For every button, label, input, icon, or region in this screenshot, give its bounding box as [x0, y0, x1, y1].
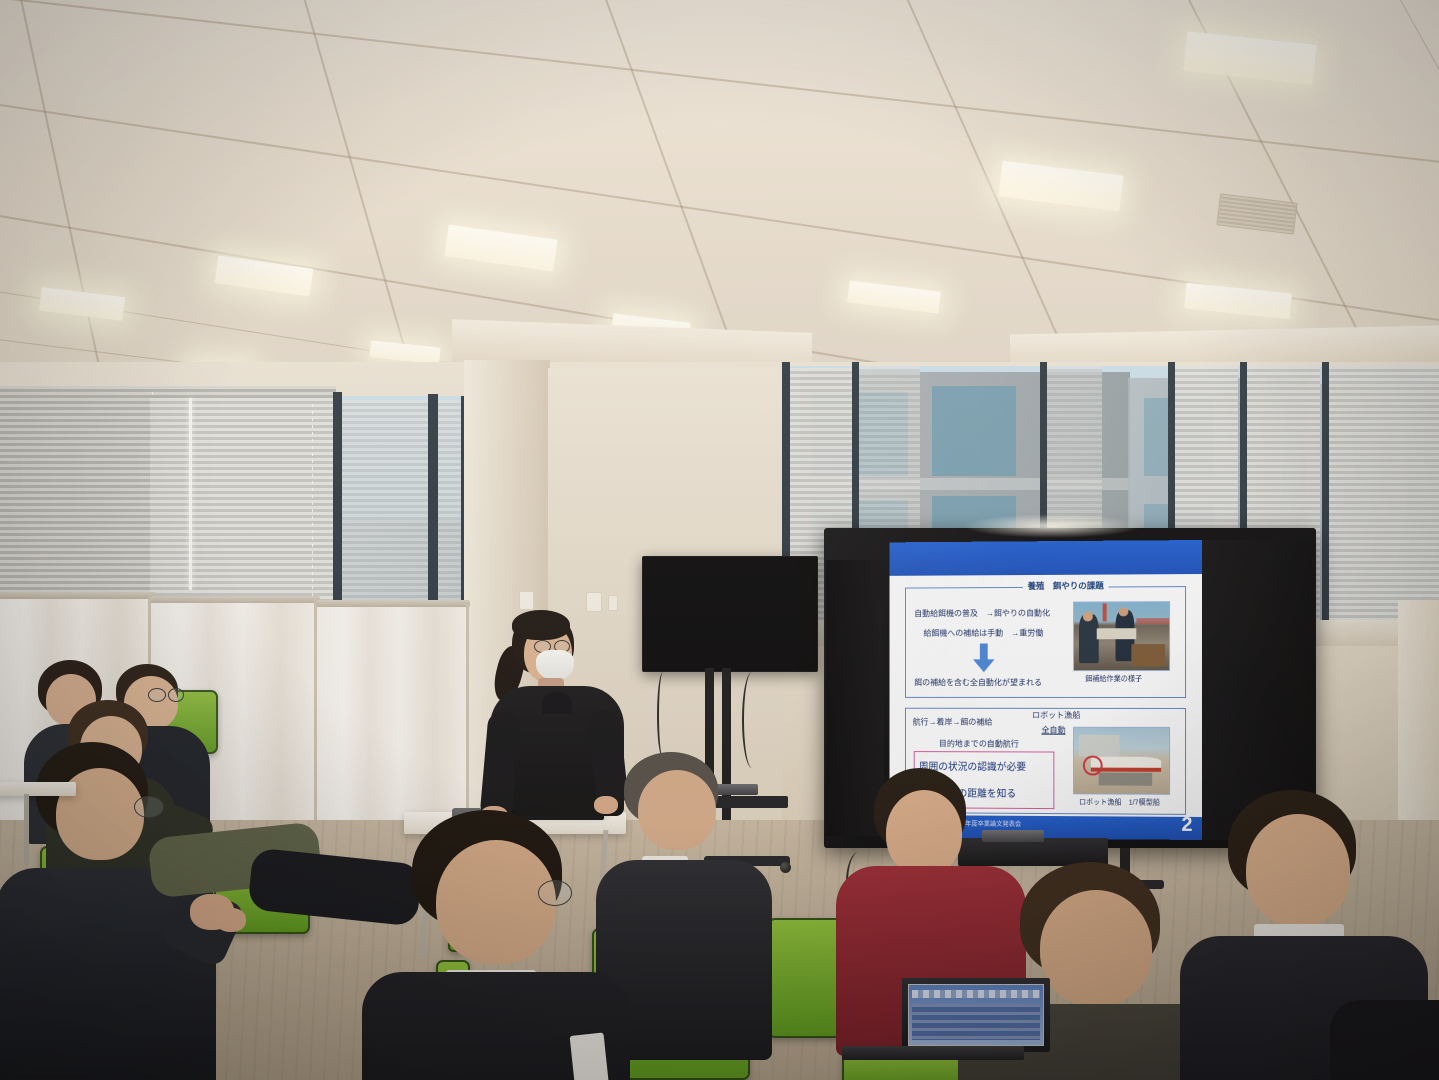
section-bottom-line-right-top: ロボット漁船: [1032, 709, 1080, 721]
ceiling-light-panel: [39, 287, 125, 321]
av-control-box[interactable]: [982, 830, 1044, 842]
section-top-label: 養殖 餌やりの課題: [1023, 580, 1109, 592]
ceiling-light-panel: [998, 161, 1123, 212]
robot-boat-photo: [1073, 727, 1171, 795]
presentation-room-photo: 研究背景 Osaka Prefecture University 養殖 餌やりの…: [0, 0, 1439, 1080]
ceiling-light-panel: [369, 340, 440, 364]
ceiling-air-vent: [1216, 193, 1297, 234]
ceiling-light-panel: [847, 280, 941, 313]
section-top-image-caption: 餌補給作業の様子: [1085, 674, 1142, 684]
cart-caster: [780, 862, 791, 873]
section-bottom-line-left: 航行→着岸→餌の補給: [913, 716, 993, 728]
window-mullion: [428, 394, 438, 634]
slide-header-bar: [890, 540, 1202, 576]
presenter-speaker: [484, 600, 634, 835]
window-blinds-right: [1404, 366, 1439, 630]
section-top-line-1: 自動給餌機の普及 →餌やりの自動化: [914, 606, 1050, 618]
audience-laptop-base[interactable]: [842, 1046, 1024, 1060]
ceiling-light-panel: [1184, 283, 1292, 320]
presenter-hair: [512, 610, 570, 640]
section-bottom-line-right-bottom: 全自動: [1041, 723, 1065, 735]
slide-page-number: 2: [1181, 814, 1192, 837]
display-cable: [657, 672, 669, 758]
side-table: [0, 782, 76, 796]
av-control-box[interactable]: [712, 784, 758, 795]
presenter-hand: [594, 796, 618, 814]
suspended-tile-ceiling: [0, 0, 1439, 400]
secondary-display-off[interactable]: [642, 556, 818, 672]
ceiling-light-panel: [444, 225, 557, 272]
ceiling-light-panel: [1183, 31, 1316, 84]
section-bottom-line-mid: 目的地までの自動航行: [939, 737, 1019, 749]
glasses-icon: [134, 796, 164, 818]
display-cable: [742, 672, 762, 768]
feed-supply-photo: [1073, 601, 1171, 672]
down-arrow-icon: [967, 644, 1000, 674]
presenter-face-mask: [536, 650, 574, 680]
section-bottom-image-caption: ロボット漁船 1/7模型船: [1079, 797, 1160, 807]
section-top-line-2: 給餌機への補給は手動 →重労働: [923, 627, 1043, 639]
ceiling-light-panel: [215, 255, 314, 296]
section-top-line-3: 餌の補給を含む全自動化が望まれる: [914, 676, 1042, 688]
window-blinds-right: [1328, 366, 1404, 628]
